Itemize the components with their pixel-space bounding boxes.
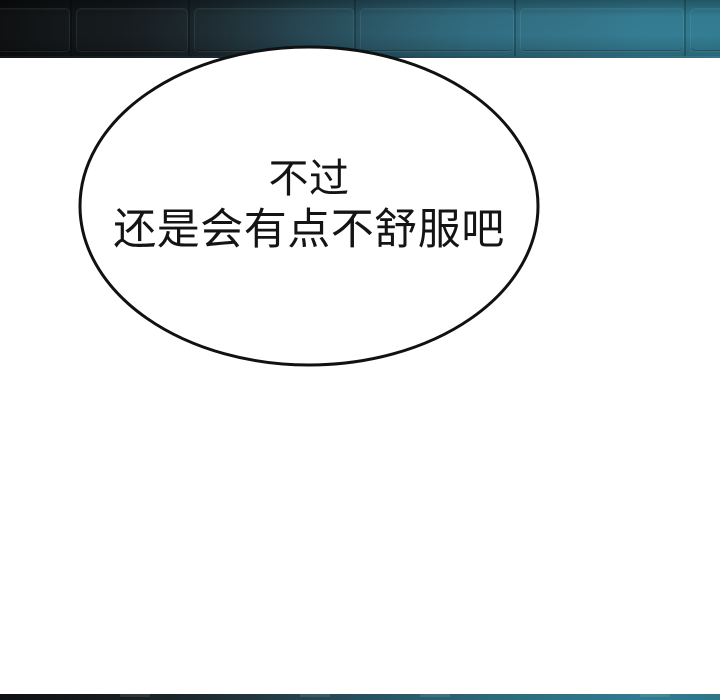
speech-balloon-text: 不过 还是会有点不舒服吧 — [78, 45, 540, 367]
speech-balloon: 不过 还是会有点不舒服吧 — [78, 45, 540, 367]
balloon-line-1: 不过 — [269, 155, 350, 205]
bottom-strip-nick — [120, 694, 150, 697]
comic-panel: 不过 还是会有点不舒服吧 — [0, 0, 720, 700]
ceiling-tile — [690, 8, 720, 52]
balloon-line-2: 还是会有点不舒服吧 — [113, 204, 505, 257]
ceiling-tile — [520, 8, 684, 52]
ceiling-seam — [684, 0, 686, 58]
bottom-strip-nick — [420, 694, 450, 697]
bottom-strip-nick — [640, 694, 670, 697]
bottom-panel-strip — [0, 694, 720, 700]
ceiling-tile — [0, 8, 70, 52]
ceiling-seam — [70, 0, 72, 58]
bottom-strip-nick — [300, 694, 330, 697]
